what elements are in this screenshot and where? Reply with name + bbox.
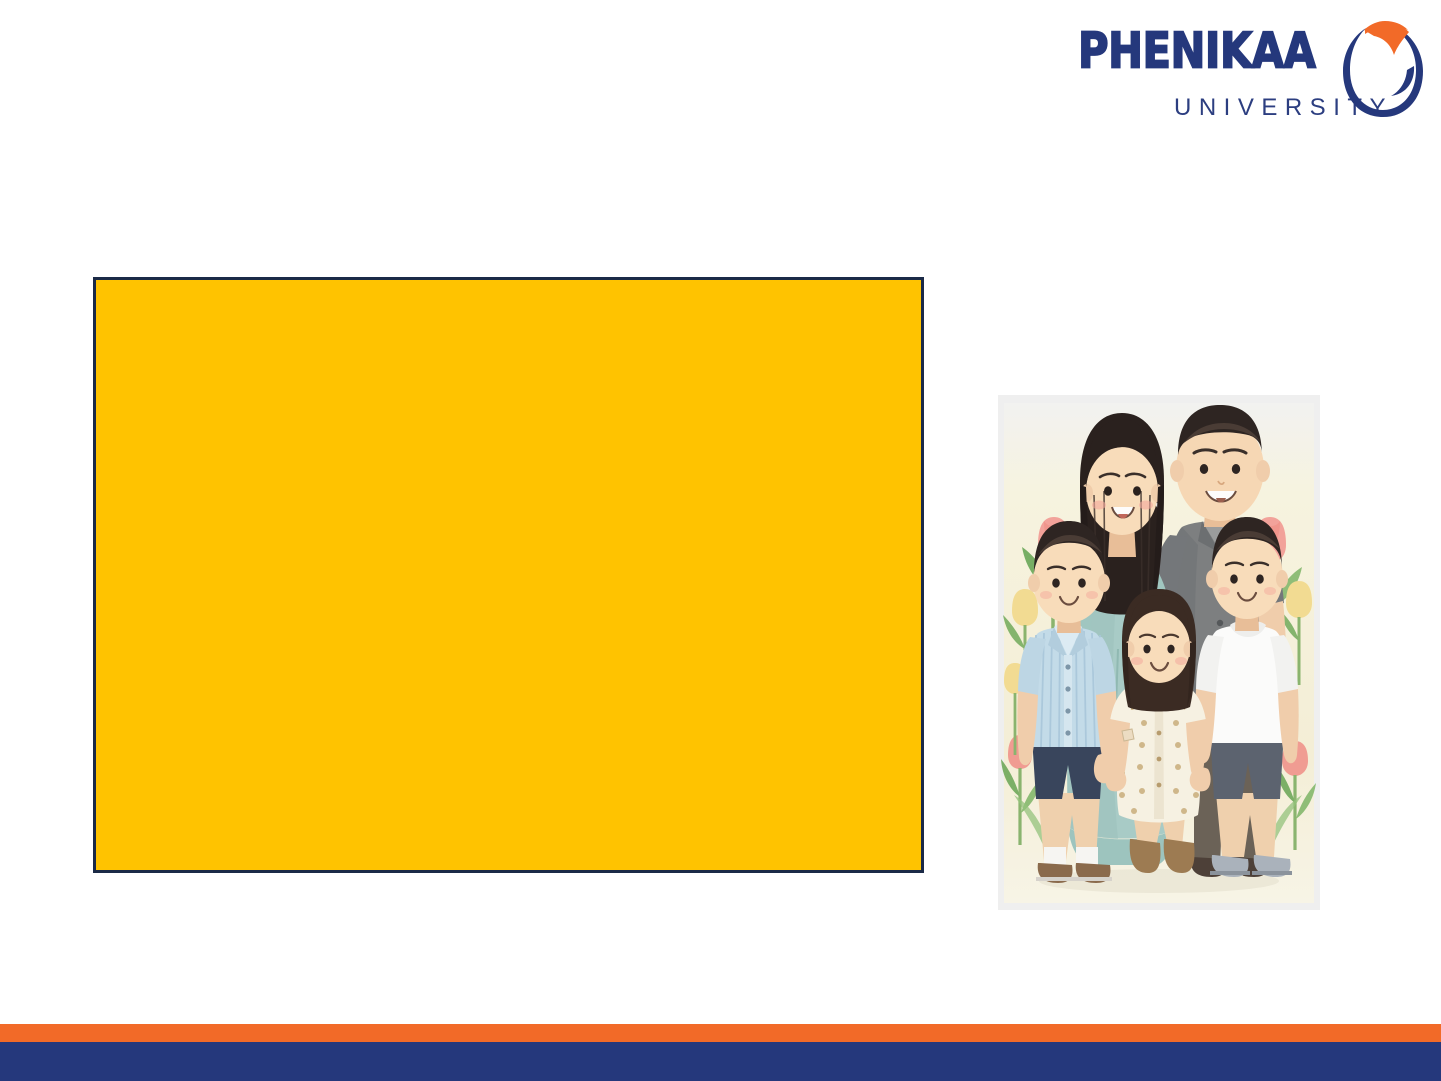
family-illustration bbox=[998, 395, 1320, 910]
phenikaa-circular-swoosh-icon bbox=[1342, 20, 1424, 120]
presentation-slide: PHENIKAA UNIVERSITY bbox=[0, 0, 1441, 1081]
footer-orange-bar bbox=[0, 1024, 1441, 1042]
phenikaa-university-logo: PHENIKAA UNIVERSITY bbox=[1078, 18, 1423, 122]
logo-wordmark: PHENIKAA bbox=[1078, 24, 1328, 79]
footer-navy-bar bbox=[0, 1042, 1441, 1081]
content-placeholder-box[interactable] bbox=[93, 277, 924, 873]
logo-subword: UNIVERSITY bbox=[1174, 95, 1364, 121]
